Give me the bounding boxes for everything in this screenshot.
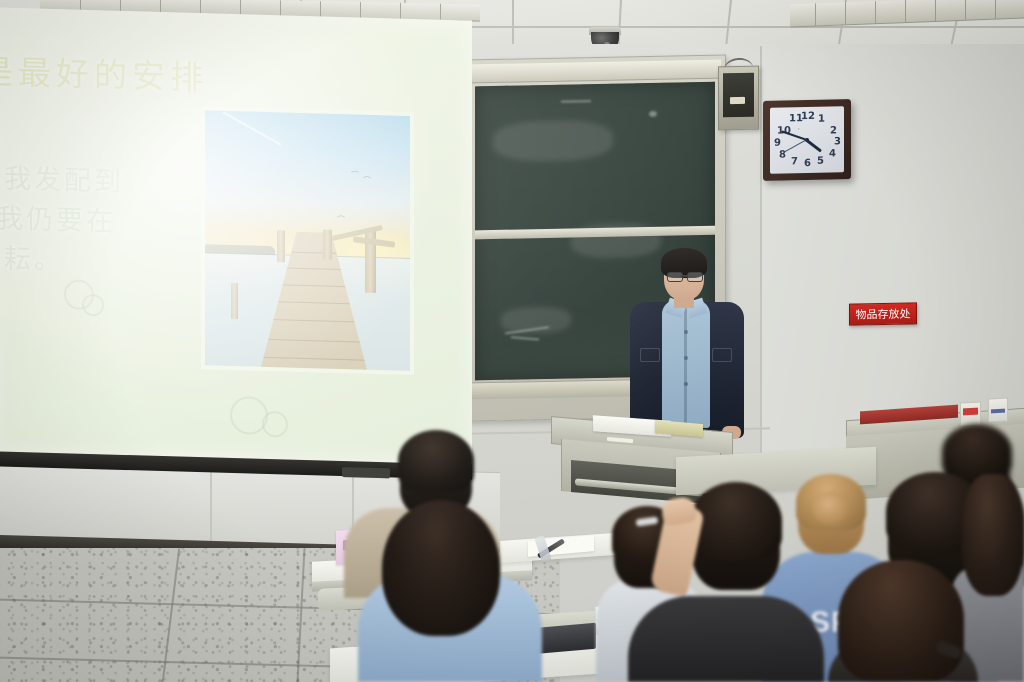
clock-number-5: 5 bbox=[817, 157, 824, 167]
slide-photo-pier: ︵ ︵ ︵ · bbox=[201, 106, 414, 375]
clock-second-hand bbox=[784, 139, 807, 153]
student-4-hair bbox=[690, 482, 782, 560]
clock-number-6: 6 bbox=[804, 159, 811, 169]
clock-number-3: 3 bbox=[834, 137, 841, 147]
clock-number-4: 4 bbox=[829, 149, 836, 159]
clock-number-9: 9 bbox=[774, 139, 781, 149]
cabinet-box-left bbox=[960, 401, 981, 426]
instructor-glasses-right bbox=[687, 272, 703, 282]
slide-body: 将我发配到 我仍要在 耕耘。 bbox=[0, 159, 124, 283]
clock-face: 12 1 2 3 4 5 6 7 8 9 10 11 • bbox=[770, 106, 844, 174]
slide-line-2: 我仍要在 bbox=[0, 199, 124, 243]
clock-number-2: 2 bbox=[830, 126, 837, 136]
slide-line-1: 将我发配到 bbox=[0, 163, 124, 198]
student-2-hair bbox=[382, 500, 500, 636]
student-4-torso bbox=[628, 596, 824, 682]
student-5-hair-bun bbox=[812, 492, 852, 526]
clock-number-7: 7 bbox=[791, 157, 798, 167]
screen-pull-handle[interactable] bbox=[342, 467, 390, 478]
speaker-badge bbox=[730, 97, 745, 104]
projection-screen-surface: 是最好的安排 将我发配到 我仍要在 耕耘。 ︵ ︵ ︵ · bbox=[0, 7, 472, 464]
projection-screen: 是最好的安排 将我发配到 我仍要在 耕耘。 ︵ ︵ ︵ · bbox=[0, 7, 472, 480]
clock-number-1: 1 bbox=[818, 115, 825, 125]
wall-speaker bbox=[718, 66, 759, 131]
slide-line-3: 耕耘。 bbox=[0, 243, 64, 277]
storage-area-sign: 物品存放处 bbox=[849, 302, 917, 325]
student-8-hair bbox=[962, 474, 1024, 596]
slide-title: 是最好的安排 bbox=[0, 45, 208, 99]
classroom-photo: 12 1 2 3 4 5 6 7 8 9 10 11 • 物品存放处 bbox=[0, 0, 1024, 682]
student-1-hair bbox=[398, 430, 474, 492]
clock-number-12: 12 bbox=[801, 112, 815, 122]
speaker-grille-icon bbox=[723, 73, 754, 118]
storage-area-sign-label: 物品存放处 bbox=[856, 306, 911, 323]
student-7-hair bbox=[942, 424, 1012, 480]
wall-clock: 12 1 2 3 4 5 6 7 8 9 10 11 • bbox=[763, 99, 851, 181]
student-9-hair bbox=[838, 560, 964, 682]
cabinet-box-right bbox=[988, 397, 1008, 422]
instructor-glasses-left bbox=[667, 272, 683, 282]
clock-number-11: 11 bbox=[789, 114, 803, 124]
instructor-glasses-bridge bbox=[681, 275, 687, 277]
clock-brand: • bbox=[798, 126, 799, 131]
blackboard-top-rail bbox=[471, 60, 721, 84]
ceiling-vent-right bbox=[790, 0, 1024, 28]
